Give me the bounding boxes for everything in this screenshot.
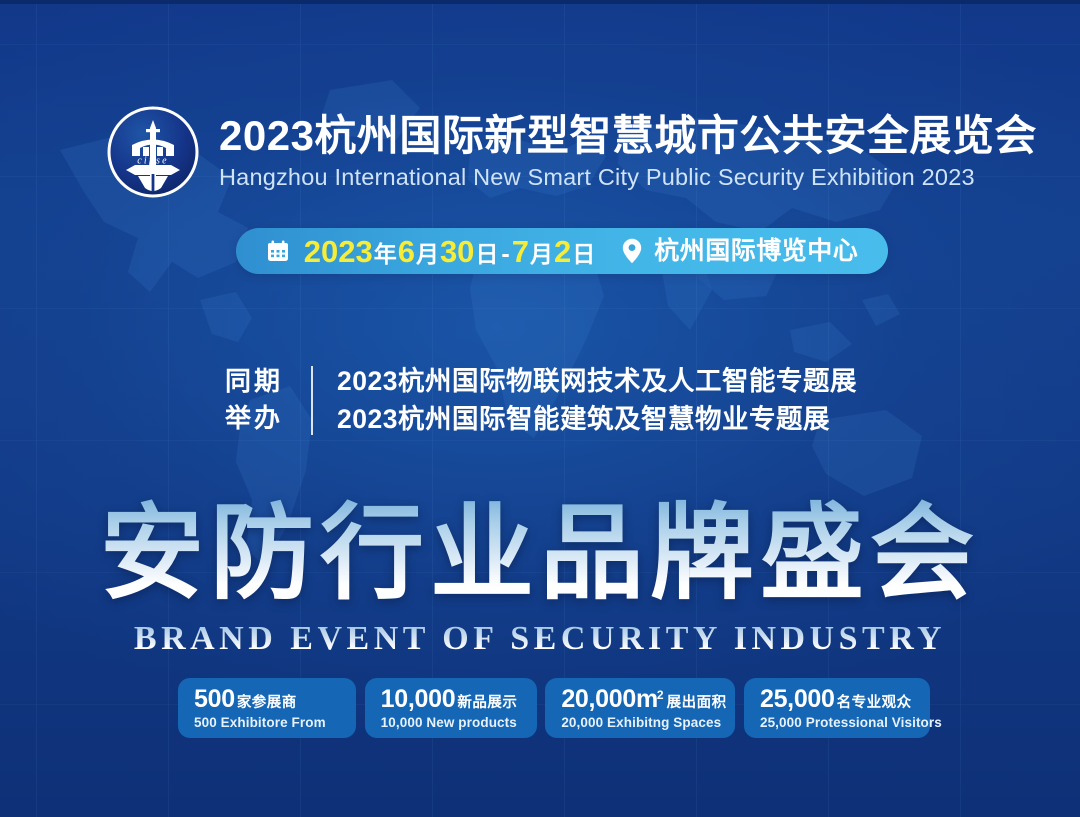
stat-subtitle-1: 10,000 New products <box>381 716 521 730</box>
top-edge-rule <box>0 0 1080 4</box>
date-month-unit-1: 月 <box>415 243 440 266</box>
stat-number-2: 20,000m <box>561 687 658 712</box>
date-start-month: 6 <box>398 236 415 267</box>
stat-subtitle-0: 500 Exhibitore From <box>194 716 340 730</box>
concurrent-label-line2: 举办 <box>225 400 283 438</box>
date-start-day: 30 <box>440 236 474 267</box>
concurrent-divider <box>311 366 313 435</box>
stat-unit-2: 展出面积 <box>667 696 727 711</box>
stats-row: 500 家参展商 500 Exhibitore From 10,000 新品展示… <box>178 678 930 738</box>
concurrent-event-1: 2023杭州国际物联网技术及人工智能专题展 <box>337 362 857 400</box>
poster-header: cipse 2023杭州国际新型智慧城市公共安全展览会 Hangzhou Int… <box>105 104 1037 200</box>
date-range-dash: - <box>499 242 511 267</box>
date-day-unit-1: 日 <box>474 243 499 266</box>
shield-emblem-icon: cipse <box>105 104 201 200</box>
location-pin-icon <box>622 238 642 264</box>
headline-chinese: 安防行业品牌盛会 <box>0 498 1080 610</box>
date-day-unit-2: 日 <box>571 243 596 266</box>
concurrent-events-block: 同期 举办 2023杭州国际物联网技术及人工智能专题展 2023杭州国际智能建筑… <box>225 362 857 439</box>
stat-box-exhibition-area: 20,000m 2 展出面积 20,000 Exhibitng Spaces <box>545 678 735 738</box>
concurrent-event-2: 2023杭州国际智能建筑及智慧物业专题展 <box>337 400 857 438</box>
stat-number-3: 25,000 <box>760 687 835 712</box>
event-venue: 杭州国际博览中心 <box>654 239 858 264</box>
title-chinese: 2023杭州国际新型智慧城市公共安全展览会 <box>219 113 1037 158</box>
stat-number-0: 500 <box>194 687 235 712</box>
concurrent-label-line1: 同期 <box>225 363 283 401</box>
stat-box-visitors: 25,000 名专业观众 25,000 Protessional Visitor… <box>744 678 930 738</box>
title-english: Hangzhou International New Smart City Pu… <box>219 165 1037 191</box>
concurrent-event-list: 2023杭州国际物联网技术及人工智能专题展 2023杭州国际智能建筑及智慧物业专… <box>337 362 857 439</box>
stat-unit-3: 名专业观众 <box>837 696 912 711</box>
date-venue-pill: 2023年6月30日-7月2日 杭州国际博览中心 <box>236 228 888 274</box>
stat-subtitle-2: 20,000 Exhibitng Spaces <box>561 716 719 730</box>
concurrent-label: 同期 举办 <box>225 362 283 439</box>
date-end-month: 7 <box>512 236 529 267</box>
stat-number-1: 10,000 <box>381 687 456 712</box>
stat-subtitle-3: 25,000 Protessional Visitors <box>760 716 914 730</box>
calendar-icon <box>266 239 290 263</box>
stat-box-exhibitors: 500 家参展商 500 Exhibitore From <box>178 678 356 738</box>
stat-unit-1: 新品展示 <box>457 696 517 711</box>
stat-unit-0: 家参展商 <box>237 696 297 711</box>
date-year: 2023 <box>304 236 373 267</box>
date-year-unit: 年 <box>373 243 398 266</box>
svg-text:cipse: cipse <box>137 156 169 167</box>
stat-superscript-2: 2 <box>657 689 664 701</box>
date-month-unit-2: 月 <box>529 243 554 266</box>
event-date: 2023年6月30日-7月2日 <box>304 236 597 267</box>
title-block: 2023杭州国际新型智慧城市公共安全展览会 Hangzhou Internati… <box>219 113 1037 190</box>
headline-english: BRAND EVENT OF SECURITY INDUSTRY <box>0 620 1080 658</box>
poster-canvas: cipse 2023杭州国际新型智慧城市公共安全展览会 Hangzhou Int… <box>0 0 1080 817</box>
date-end-day: 2 <box>554 236 571 267</box>
stat-box-new-products: 10,000 新品展示 10,000 New products <box>365 678 537 738</box>
